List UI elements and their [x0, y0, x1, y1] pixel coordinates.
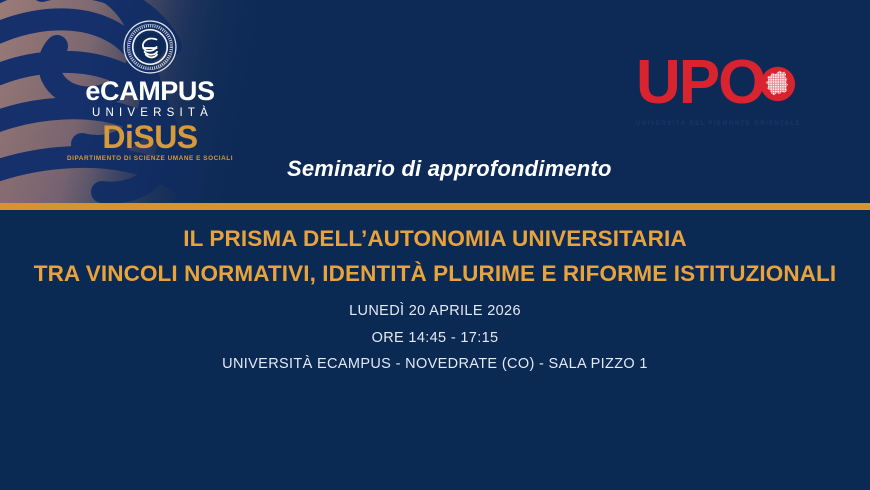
upo-logo-row: UPO	[636, 52, 796, 114]
header-band: eCAMPUS UNIVERSITÀ DiSUS DIPARTIMENTO DI…	[0, 0, 870, 203]
ecampus-logo: eCAMPUS UNIVERSITÀ DiSUS DIPARTIMENTO DI…	[50, 20, 250, 162]
title-line-2: TRA VINCOLI NORMATIVI, IDENTITÀ PLURIME …	[0, 263, 870, 286]
event-date: LUNEDÌ 20 APRILE 2026	[0, 304, 870, 319]
seminar-poster: eCAMPUS UNIVERSITÀ DiSUS DIPARTIMENTO DI…	[0, 0, 870, 490]
ecampus-subtitle: UNIVERSITÀ	[50, 108, 250, 120]
event-time: ORE 14:45 - 17:15	[0, 331, 870, 346]
upo-logo: UPO	[636, 52, 796, 127]
piemonte-map-icon	[760, 57, 796, 111]
gold-divider	[0, 203, 870, 210]
title-line-1: IL PRISMA DELL’AUTONOMIA UNIVERSITARIA	[0, 228, 870, 251]
ecampus-seal-icon	[123, 20, 177, 74]
event-venue: UNIVERSITÀ ECAMPUS - NOVEDRATE (CO) - SA…	[0, 357, 870, 372]
upo-tagline: UNIVERSITÀ DEL PIEMONTE ORIENTALE	[636, 121, 796, 127]
disus-subtitle: DIPARTIMENTO DI SCIENZE UMANE E SOCIALI	[50, 156, 250, 162]
ecampus-wordmark: eCAMPUS	[50, 78, 250, 105]
disus-wordmark: DiSUS	[50, 121, 250, 153]
content-band: IL PRISMA DELL’AUTONOMIA UNIVERSITARIA T…	[0, 210, 870, 490]
seminar-kicker: Seminario di approfondimento	[287, 156, 612, 182]
event-details: LUNEDÌ 20 APRILE 2026 ORE 14:45 - 17:15 …	[0, 304, 870, 372]
upo-wordmark: UPO	[636, 56, 764, 109]
seminar-title: IL PRISMA DELL’AUTONOMIA UNIVERSITARIA T…	[0, 228, 870, 285]
